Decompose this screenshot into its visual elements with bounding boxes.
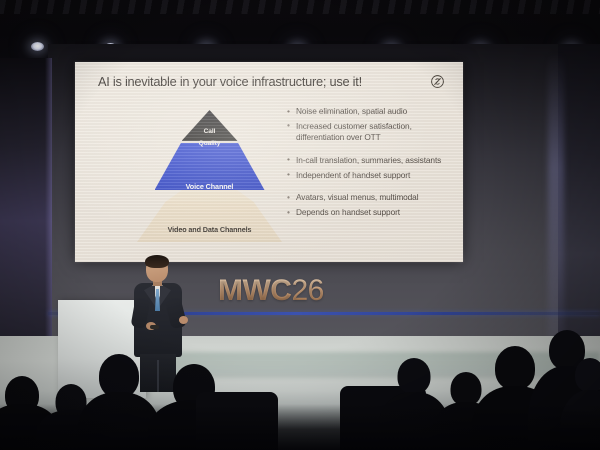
circle-slash-logo-icon bbox=[430, 74, 445, 89]
bullet-item: Depends on handset support bbox=[287, 207, 449, 218]
mwc26-wordmark: MWC26 bbox=[218, 276, 324, 306]
pyramid-tier-base-label: Video and Data Channels bbox=[137, 225, 282, 234]
foreground-shadow bbox=[0, 404, 600, 450]
bullet-item: Independent of handset support bbox=[287, 170, 449, 181]
bullet-group-call-quality: Noise elimination, spatial audio Increas… bbox=[287, 106, 449, 144]
pyramid-tier-top-label-line1: Call bbox=[137, 126, 282, 138]
mwc-wordmark-bold: MWC bbox=[218, 274, 291, 307]
presentation-slide: AI is inevitable in your voice infrastru… bbox=[75, 62, 463, 262]
bullet-item: Avatars, visual menus, multimodal bbox=[287, 192, 449, 203]
conference-stage-photo: MWC26 AI is inevitable in your voice inf… bbox=[0, 0, 600, 450]
bullet-item: In-call translation, summaries, assistan… bbox=[287, 155, 449, 166]
bullet-group-video-data-channels: Avatars, visual menus, multimodal Depend… bbox=[287, 192, 449, 218]
pyramid-tier-middle-label: Voice Channel bbox=[137, 182, 282, 191]
spotlight-1 bbox=[31, 42, 44, 51]
audience-head bbox=[575, 358, 600, 392]
bullet-item: Increased customer satisfaction, differe… bbox=[287, 121, 449, 144]
ceiling-truss bbox=[0, 0, 600, 14]
slide-bullet-columns: Noise elimination, spatial audio Increas… bbox=[287, 106, 449, 219]
pyramid-tier-base bbox=[137, 202, 282, 242]
mwc-wordmark-year: 26 bbox=[291, 274, 323, 307]
pyramid-tier-base-upper bbox=[137, 190, 282, 202]
audience-head bbox=[398, 358, 431, 394]
speaker-hair bbox=[145, 255, 169, 268]
pyramid-tier-top-label-line2: Quality bbox=[137, 138, 282, 150]
pyramid-tier-top-label: Call Quality bbox=[137, 126, 282, 149]
speaker-hand-right bbox=[179, 316, 188, 324]
slide-title: AI is inevitable in your voice infrastru… bbox=[98, 74, 362, 89]
bullet-group-voice-channel: In-call translation, summaries, assistan… bbox=[287, 155, 449, 181]
presentation-remote bbox=[150, 325, 159, 329]
three-tier-pyramid-diagram: Call Quality Voice Channel Video and Dat… bbox=[137, 110, 282, 242]
bullet-item: Noise elimination, spatial audio bbox=[287, 106, 449, 117]
